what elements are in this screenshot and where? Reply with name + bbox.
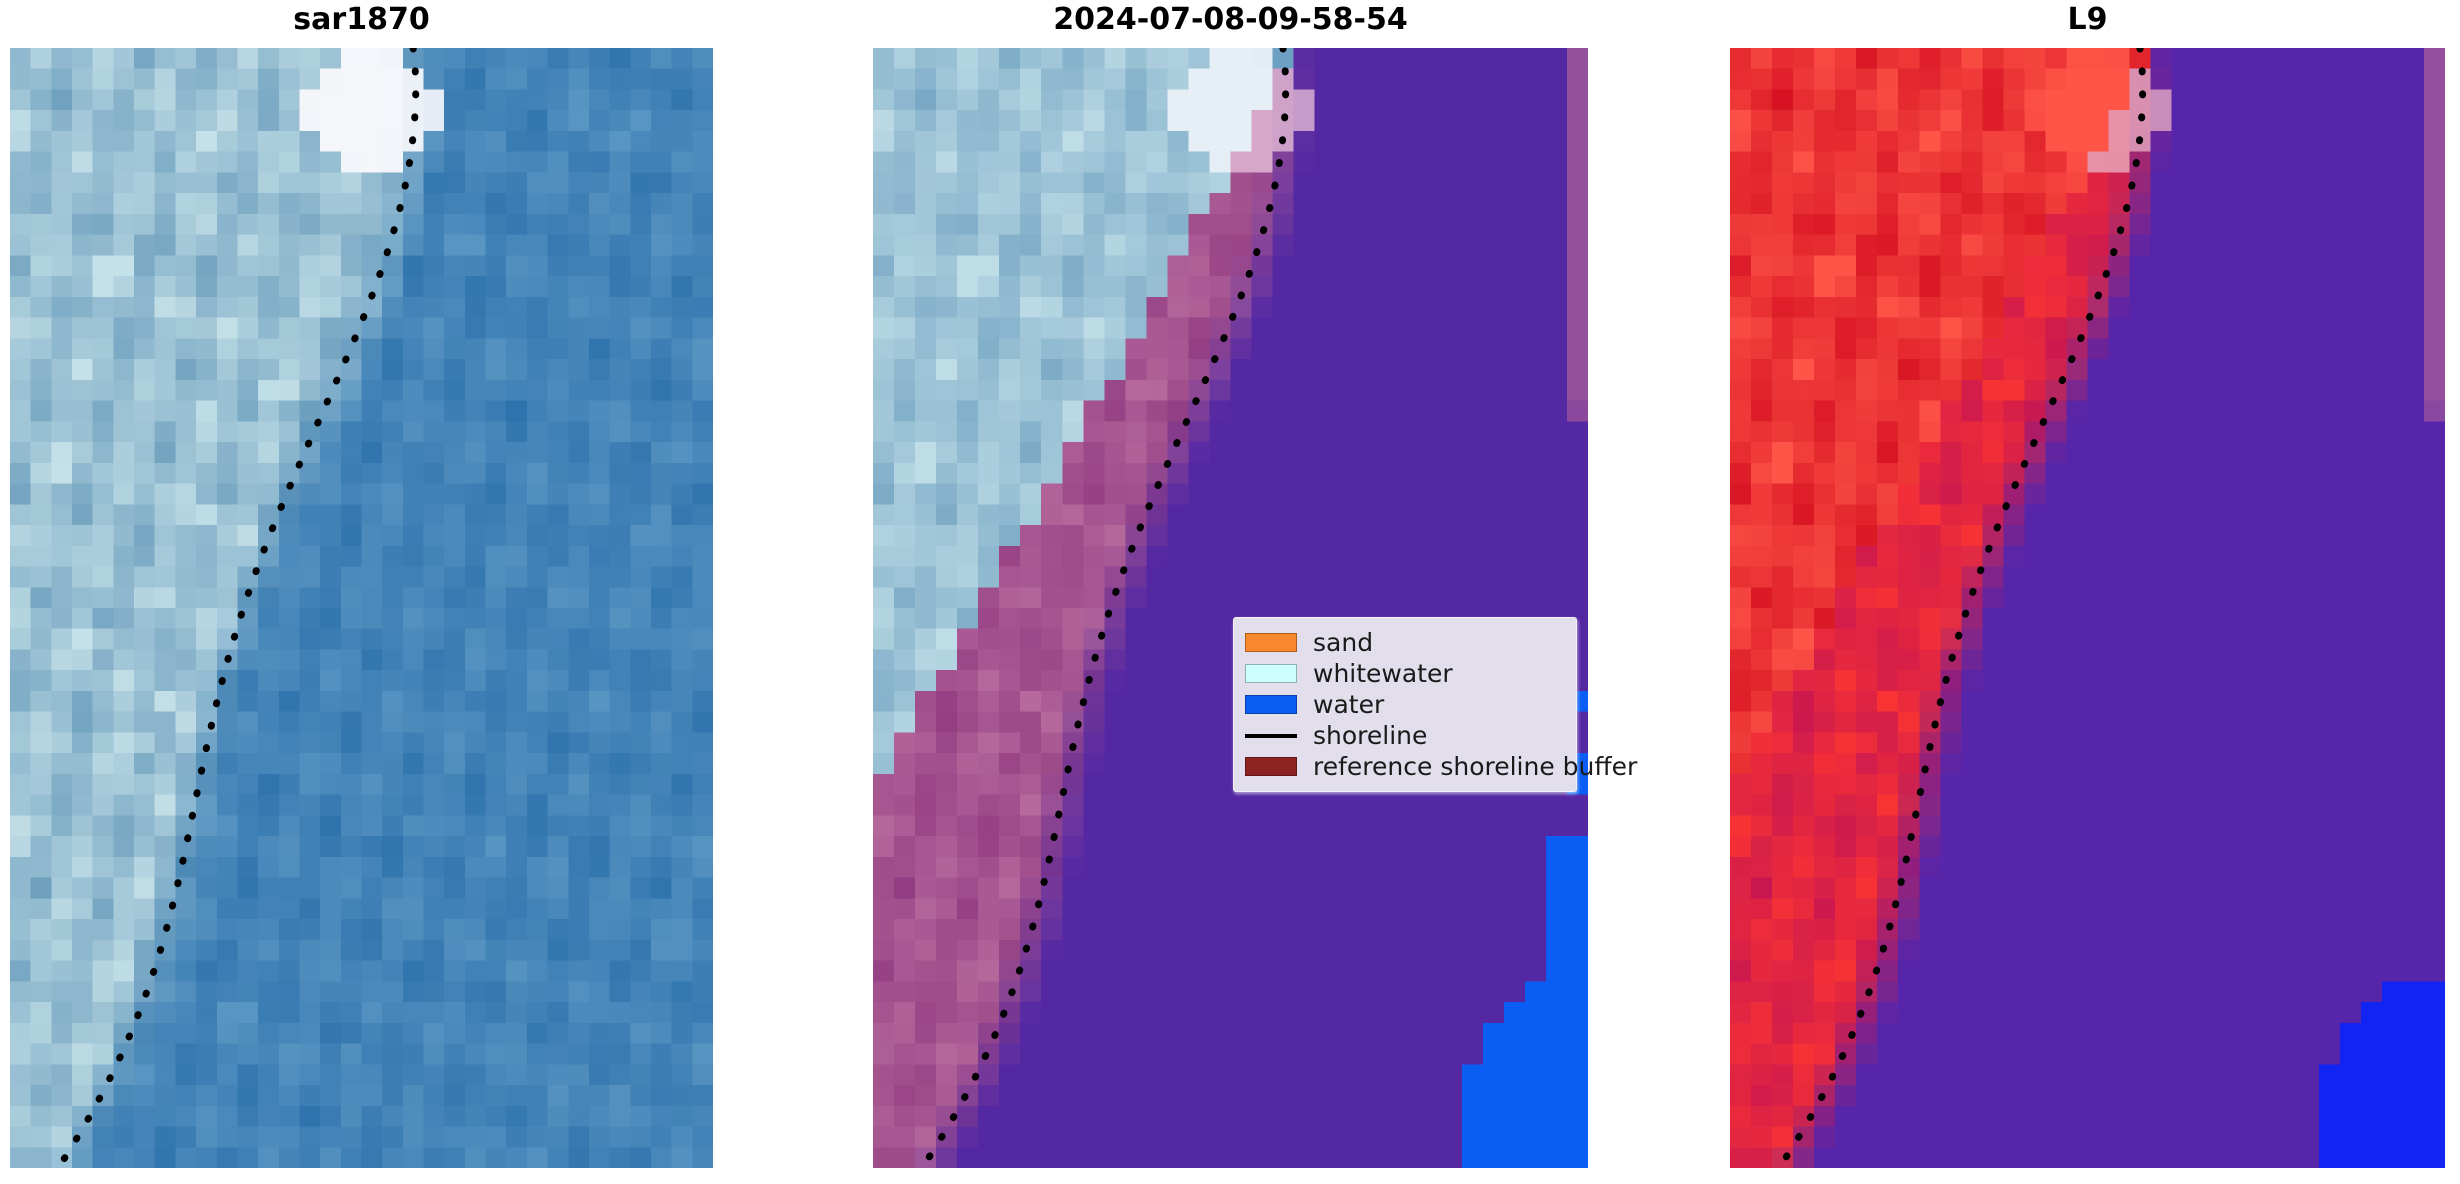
shoreline-line-swatch xyxy=(1245,734,1297,738)
whitewater-color-swatch xyxy=(1245,664,1297,683)
legend-label-reference-shoreline-buffer: reference shoreline buffer xyxy=(1313,754,1637,779)
legend-item-reference-shoreline-buffer: reference shoreline buffer xyxy=(1245,751,1566,782)
raster-image-2024-07-08-09-58-54 xyxy=(873,48,1588,1168)
legend-label-shoreline: shoreline xyxy=(1313,723,1427,748)
panel-L9: L9 xyxy=(1730,0,2445,1184)
panel-sar1870: sar1870 xyxy=(10,0,713,1184)
panel-title-sar1870: sar1870 xyxy=(10,0,713,48)
legend-item-shoreline: shoreline xyxy=(1245,720,1566,751)
classification-legend[interactable]: sand whitewater water shoreline referenc… xyxy=(1233,617,1577,792)
legend-label-sand: sand xyxy=(1313,630,1373,655)
image-axes-L9[interactable] xyxy=(1730,48,2445,1168)
panel-2024-07-08-09-58-54: 2024-07-08-09-58-54 xyxy=(873,0,1588,1184)
figure-canvas: sar1870 2024-07-08-09-58-54 L9 sand whit… xyxy=(0,0,2460,1184)
legend-item-sand: sand xyxy=(1245,627,1566,658)
legend-label-water: water xyxy=(1313,692,1384,717)
legend-item-water: water xyxy=(1245,689,1566,720)
raster-image-sar1870 xyxy=(10,48,713,1168)
water-color-swatch xyxy=(1245,695,1297,714)
panel-title-L9: L9 xyxy=(1730,0,2445,48)
panel-title-2024-07-08-09-58-54: 2024-07-08-09-58-54 xyxy=(873,0,1588,48)
legend-item-whitewater: whitewater xyxy=(1245,658,1566,689)
image-axes-sar1870[interactable] xyxy=(10,48,713,1168)
legend-label-whitewater: whitewater xyxy=(1313,661,1453,686)
reference-shoreline-buffer-color-swatch xyxy=(1245,757,1297,776)
raster-image-L9 xyxy=(1730,48,2445,1168)
image-axes-2024-07-08-09-58-54[interactable] xyxy=(873,48,1588,1168)
sand-color-swatch xyxy=(1245,633,1297,652)
